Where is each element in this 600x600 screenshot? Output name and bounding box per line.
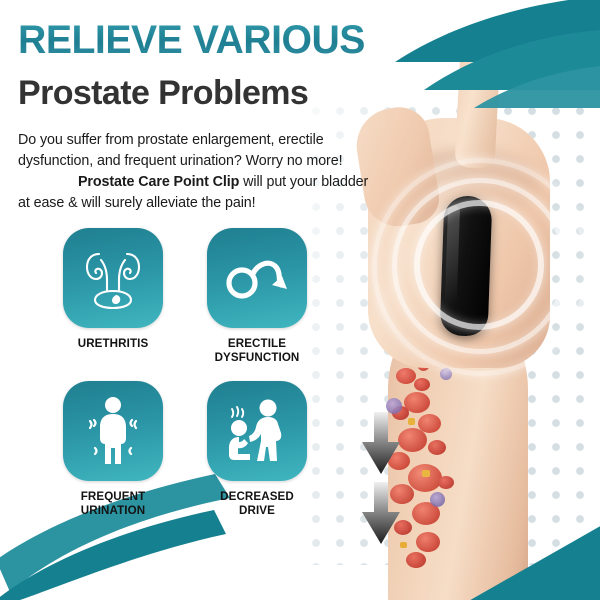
- hand-photo-composition: [330, 0, 600, 600]
- swoosh-bottom-2: [0, 510, 226, 600]
- symptom-card-grid: URETHRITIS ERECTILEDYSFUNCTION: [52, 228, 318, 518]
- down-arrow-icon-2: [360, 482, 402, 544]
- page-headline: RELIEVE VARIOUS: [18, 20, 365, 60]
- symptom-label-line2: DRIVE: [239, 504, 275, 517]
- symptom-label-line1: FREQUENT: [81, 490, 146, 503]
- kidney-bladder-icon: [82, 246, 144, 310]
- body-copy: Do you suffer from prostate enlargement,…: [18, 130, 418, 213]
- symptom-tile: [63, 228, 163, 328]
- down-arrow-icon-1: [360, 412, 402, 474]
- poster-root: RELIEVE VARIOUS Prostate Problems Do you…: [0, 0, 600, 600]
- symptom-label: ERECTILEDYSFUNCTION: [215, 337, 300, 364]
- product-name: Prostate Care Point Clip: [78, 174, 239, 190]
- index-finger: [454, 27, 501, 169]
- symptom-label-line2: URINATION: [81, 504, 145, 517]
- symptom-tile: [63, 381, 163, 481]
- symptom-card-decreased-drive[interactable]: DECREASEDDRIVE: [196, 381, 318, 517]
- body-line-3-tail: will put your bladder: [239, 174, 368, 190]
- symptom-label-line1: DECREASED: [220, 490, 294, 503]
- body-line-1: Do you suffer from prostate enlargement,…: [18, 132, 324, 148]
- symptom-card-urethritis[interactable]: URETHRITIS: [52, 228, 174, 364]
- person-holding-urge-icon: [84, 396, 142, 466]
- symptom-card-row-1: URETHRITIS ERECTILEDYSFUNCTION: [52, 228, 318, 364]
- symptom-label: URETHRITIS: [78, 337, 149, 351]
- page-subheadline: Prostate Problems: [18, 76, 308, 110]
- symptom-card-frequent-urination[interactable]: FREQUENTURINATION: [52, 381, 174, 517]
- symptom-tile: [207, 381, 307, 481]
- symptom-card-erectile-dysfunction[interactable]: ERECTILEDYSFUNCTION: [196, 228, 318, 364]
- body-line-4: at ease & will surely alleviate the pain…: [18, 195, 256, 211]
- symptom-tile: [207, 228, 307, 328]
- body-line-2: dysfunction, and frequent urination? Wor…: [18, 153, 342, 169]
- symptom-label-line1: ERECTILE: [228, 337, 286, 350]
- symptom-label: FREQUENTURINATION: [81, 490, 146, 517]
- symptom-card-row-2: FREQUENTURINATION: [52, 381, 318, 517]
- symptom-label: DECREASEDDRIVE: [220, 490, 294, 517]
- male-symbol-drooping-icon: [224, 255, 290, 301]
- symptom-label-line2: DYSFUNCTION: [215, 351, 300, 364]
- couple-low-libido-icon: [222, 397, 292, 465]
- ripple-ring-inner: [414, 200, 544, 330]
